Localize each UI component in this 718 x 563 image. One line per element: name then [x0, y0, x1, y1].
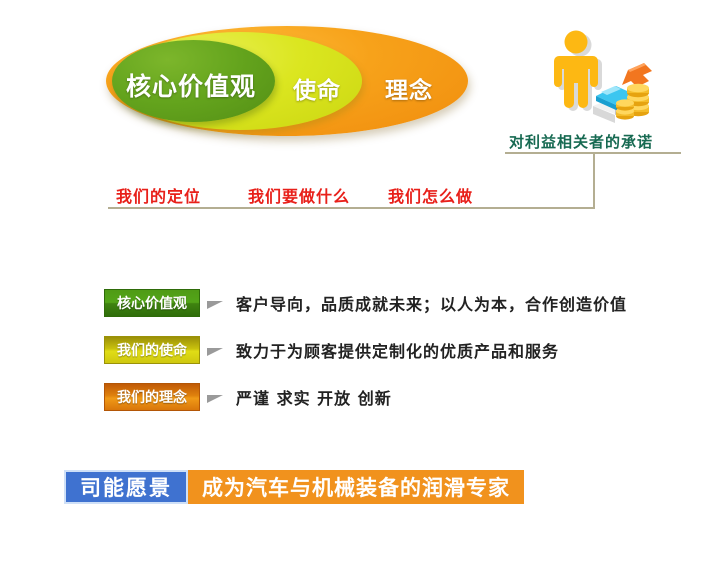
- caption-positioning: 我们的定位: [116, 183, 201, 207]
- ellipse-label-core-values: 核心价值观: [126, 67, 256, 103]
- caption-what-we-do: 我们要做什么: [248, 183, 350, 207]
- vision-label: 司能愿景: [64, 470, 188, 504]
- ellipse-label-philosophy: 理念: [385, 71, 433, 105]
- ellipse-label-mission: 使命: [293, 71, 341, 105]
- slide-canvas: 核心价值观 使命 理念: [0, 0, 718, 563]
- vision-statement: 成为汽车与机械装备的润滑专家: [188, 470, 524, 504]
- value-text-mission: 致力于为顾客提供定制化的优质产品和服务: [236, 338, 559, 362]
- badge-core-values: 核心价值观: [104, 289, 200, 317]
- badge-philosophy: 我们的理念: [104, 383, 200, 411]
- value-text-philosophy: 严谨 求实 开放 创新: [236, 385, 392, 409]
- badge-mission: 我们的使命: [104, 336, 200, 364]
- arrow-marker-icon: [207, 348, 223, 356]
- vision-bar: 司能愿景 成为汽车与机械装备的润滑专家: [64, 470, 524, 504]
- person-with-money-icon: [546, 28, 658, 126]
- arrow-marker-icon: [207, 301, 223, 309]
- stakeholder-commitment-label: 对利益相关者的承诺: [509, 131, 653, 152]
- arrow-marker-icon: [207, 395, 223, 403]
- caption-how-we-do: 我们怎么做: [388, 183, 473, 207]
- value-text-core-values: 客户导向，品质成就未来；以人为本，合作创造价值: [236, 291, 627, 315]
- connector-vertical-line: [593, 153, 595, 209]
- connector-horizontal-line: [108, 207, 595, 209]
